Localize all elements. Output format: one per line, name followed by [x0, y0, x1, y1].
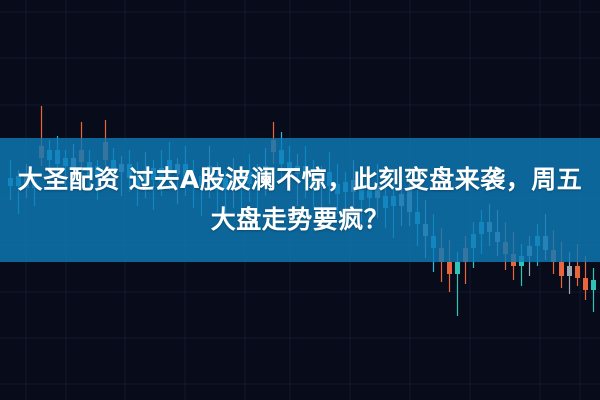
candle-body — [583, 278, 588, 290]
candle-body — [575, 266, 580, 278]
candle-body — [591, 280, 596, 290]
thumbnail-image: 大圣配资 过去A股波澜不惊，此刻变盘来袭，周五 大盘走势要疯？ — [0, 0, 600, 400]
headline-line-1: 大圣配资 过去A股波澜不惊，此刻变盘来袭，周五 — [18, 160, 583, 200]
candle-body — [455, 262, 460, 274]
candle-body — [447, 262, 452, 274]
headline-banner: 大圣配资 过去A股波澜不惊，此刻变盘来袭，周五 大盘走势要疯？ — [0, 138, 600, 262]
headline-line-2: 大盘走势要疯？ — [211, 200, 390, 240]
candle-body — [567, 266, 572, 276]
candle-body — [559, 262, 564, 276]
